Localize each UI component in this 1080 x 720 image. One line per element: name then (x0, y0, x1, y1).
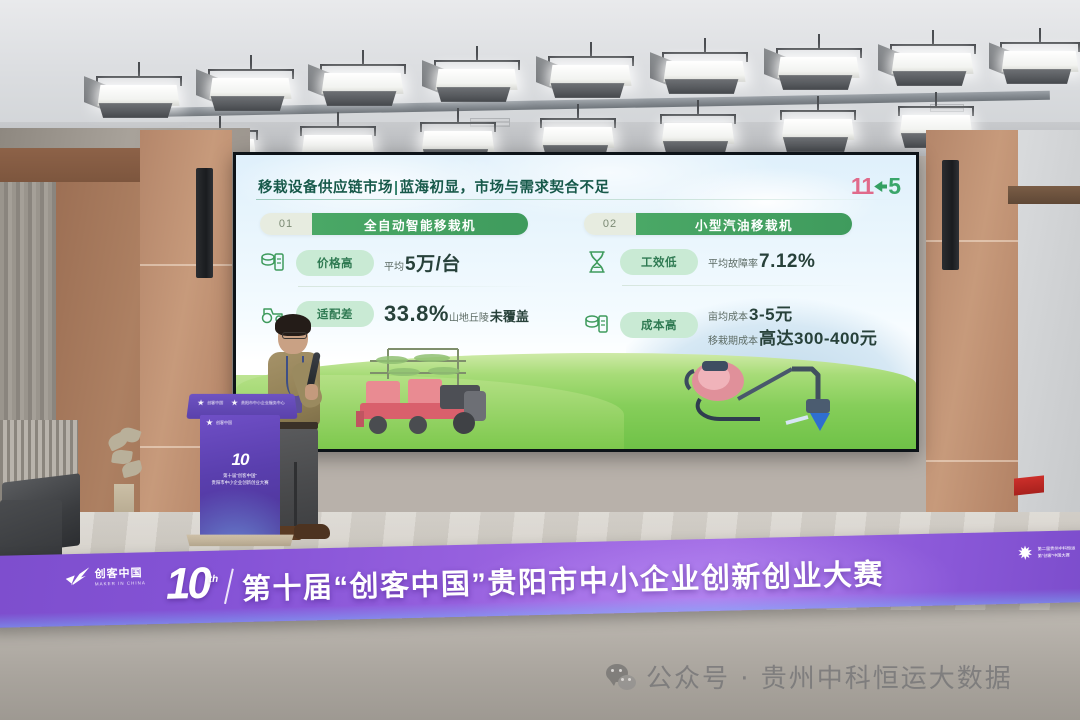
fact-divider (298, 286, 538, 287)
watermark: 公众号 · 贵州中科恒运大数据 (606, 658, 1013, 695)
slide-title: 移栽设备供应链市场|蓝海初显，市场与需求契合不足 (258, 176, 610, 197)
screenshot-root: 移栽设备供应链市场|蓝海初显，市场与需求契合不足 11 5 01 全自动智能移栽… (0, 0, 1080, 720)
column-number: 01 (260, 213, 312, 235)
maker-china-mark-icon (65, 567, 89, 586)
podium-base (186, 535, 293, 546)
banner-brand-cn: 创客中国 (94, 564, 145, 581)
presenter-leg-split (294, 462, 297, 528)
fact-chip: 价格高 (296, 250, 374, 276)
hourglass-icon (584, 250, 610, 274)
column-label: 全自动智能移栽机 (312, 213, 528, 235)
fact-value: 亩均成本 3-5元 移栽期成本 高达300-400元 (708, 300, 884, 349)
column-header-02: 02 小型汽油移栽机 (584, 213, 852, 235)
speaker-column-left (196, 168, 213, 278)
fact-prefix: 平均故障率 (708, 255, 758, 270)
slide-header: 移栽设备供应链市场|蓝海初显，市场与需求契合不足 11 5 (258, 173, 900, 200)
edition-suffix: th (209, 574, 219, 585)
wechat-icon (606, 664, 636, 690)
podium-front-panel: 创客中国 10 第十届“创客中国” 贵阳市中小企业创新创业大赛 (200, 415, 280, 539)
fact-number: 7.12% (759, 251, 815, 273)
fact-divider (622, 285, 862, 286)
slide-title-rule (256, 199, 901, 200)
decorative-plant (106, 428, 142, 520)
fact-chip: 工效低 (620, 249, 698, 275)
star-icon (206, 419, 213, 426)
exit-sign (1014, 475, 1044, 495)
slide-title-main: 移栽设备供应链市场 (258, 180, 393, 196)
badge-line-2: 第“创客”中国大赛 (1038, 552, 1076, 559)
small-gasoline-transplanter (680, 347, 870, 435)
fact-row: 价格高 平均 5万/台 (260, 249, 560, 276)
podium-edition-number: 10 (200, 450, 280, 470)
podium-logo-b-text: 贵阳市中小企业服务中心 (241, 400, 285, 406)
fact-row: 工效低 平均故障率 7.12% (584, 249, 884, 275)
slide-column-01: 01 全自动智能移栽机 价格高 平均 5万/台 (260, 213, 560, 327)
edition-digits: 10 (165, 559, 209, 609)
fact-value: 平均故障率 7.12% (708, 251, 815, 273)
banner-secondary-badge: 第二届贵州中科恒运 第“创客”中国大赛 (1017, 544, 1075, 560)
fact-chip: 成本高 (620, 312, 698, 338)
logo-num-1: 11 (851, 173, 873, 200)
presenter-shoe-right (294, 524, 330, 539)
fact-prefix-2: 移栽期成本 (708, 332, 758, 347)
fact-prefix: 平均 (384, 258, 404, 273)
podium-panel-line1: 第十届“创客中国” (200, 473, 280, 479)
podium-panel-logo-text: 创客中国 (216, 420, 232, 426)
watermark-text: 公众号 · 贵州中科恒运大数据 (646, 658, 1013, 695)
column-number: 02 (584, 213, 636, 235)
slide-title-divider: | (394, 180, 399, 196)
podium-logo-b: 贵阳市中小企业服务中心 (231, 399, 285, 406)
slide-title-sub: 蓝海初显，市场与需求契合不足 (400, 180, 610, 196)
right-soffit (1008, 186, 1080, 204)
banner-divider (224, 569, 234, 605)
fact-suffix-2: 未覆盖 (490, 306, 529, 325)
fact-row: 成本高 亩均成本 3-5元 移栽期成本 高达300-400元 (584, 300, 884, 349)
fact-suffix: 山地丘陵 (449, 309, 489, 324)
fact-number: 5万/台 (405, 249, 461, 276)
coins-icon (584, 313, 610, 337)
slide-column-02: 02 小型汽油移栽机 工效低 平均故障率 7.12% (584, 213, 884, 349)
banner-brand-en: MAKER IN CHINA (95, 580, 146, 586)
red-transplanter-machine (332, 341, 512, 437)
star-icon (197, 399, 205, 406)
star-icon (231, 399, 238, 406)
podium-logo-a-text: 创客中国 (207, 400, 223, 406)
fact-value: 33.8% 山地丘陵 未覆盖 (384, 301, 529, 327)
leaf-icon (874, 181, 887, 192)
column-header-01: 01 全自动智能移栽机 (260, 213, 528, 235)
right-wood-column (926, 130, 1018, 560)
fact-number: 3-5元 (749, 300, 793, 325)
banner-edition-number: 10th (165, 559, 219, 610)
coins-icon (260, 251, 286, 275)
speaker-column-right (942, 160, 959, 270)
banner-title: 第十届“创客中国”贵阳市中小企业创新创业大赛 (241, 551, 884, 608)
glasses-icon (282, 332, 307, 339)
snowflake-icon (1017, 545, 1032, 560)
column-label: 小型汽油移栽机 (636, 213, 852, 235)
fact-value: 平均 5万/台 (384, 249, 461, 276)
fact-prefix: 亩均成本 (708, 308, 748, 323)
presenter-hand (305, 384, 318, 400)
podium-panel-logo: 创客中国 (200, 415, 280, 426)
podium-swoosh-graphic (200, 483, 280, 539)
logo-num-2: 5 (888, 173, 900, 200)
slide-corner-logo: 11 5 (851, 173, 900, 200)
podium: 创客中国 贵阳市中小企业服务中心 创客中国 10 第十届“创客中国” 贵阳市中小… (196, 393, 288, 539)
fact-number: 33.8% (384, 301, 449, 327)
podium-logo-a: 创客中国 (197, 399, 223, 406)
fact-number-2: 高达300-400元 (759, 324, 877, 349)
banner-brand-logo: 创客中国 MAKER IN CHINA (65, 564, 145, 587)
